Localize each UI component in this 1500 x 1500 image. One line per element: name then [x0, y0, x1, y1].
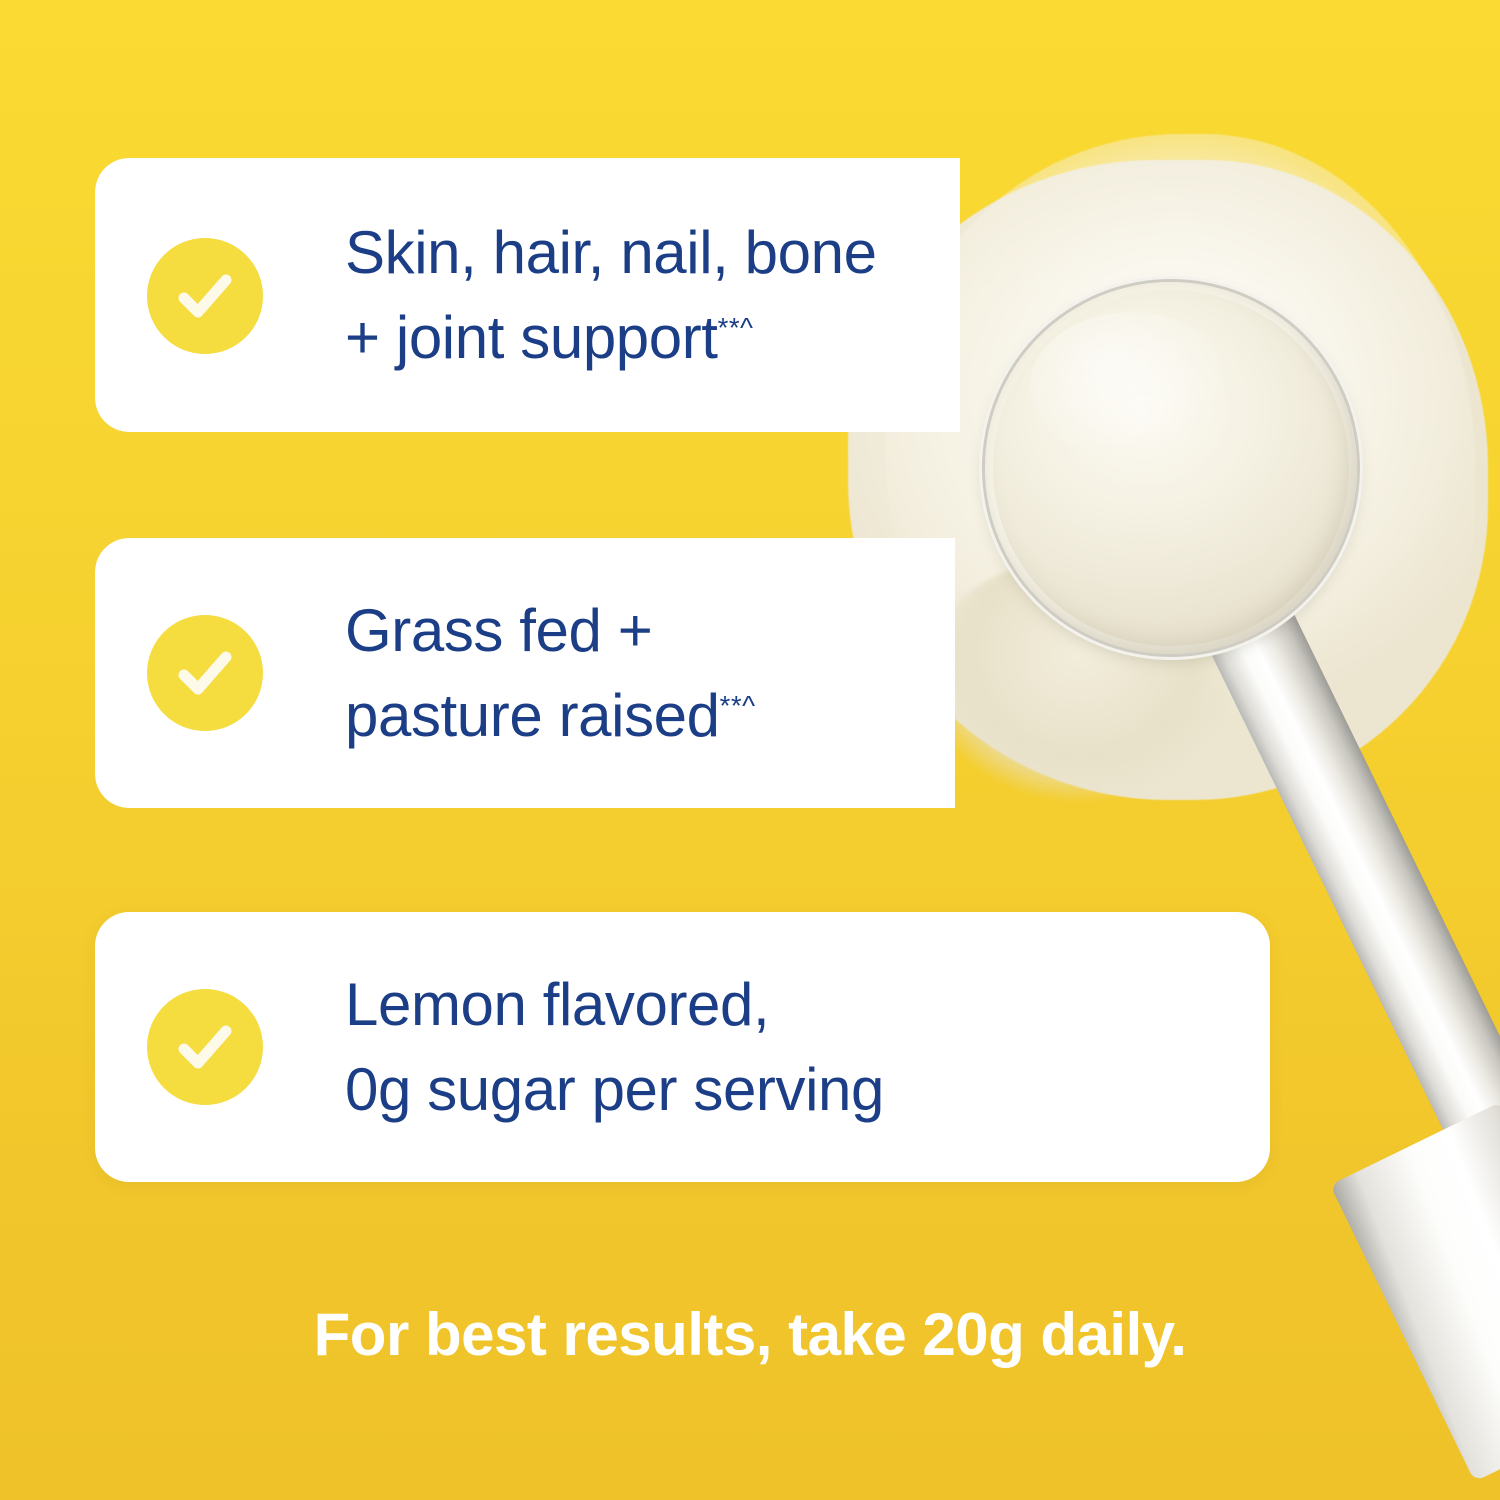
benefit-card-text: Skin, hair, nail, bone + joint support**… — [345, 210, 877, 380]
benefit-card: Lemon flavored, 0g sugar per serving — [95, 912, 1270, 1182]
benefit-card: Grass fed + pasture raised**^ — [95, 538, 1270, 808]
benefit-card-list: Skin, hair, nail, bone + joint support**… — [0, 0, 1500, 1500]
check-icon — [147, 238, 263, 354]
benefit-line-2-text: 0g sugar per serving — [345, 1056, 884, 1123]
benefit-superscript: **^ — [718, 312, 754, 343]
usage-instruction: For best results, take 20g daily. — [0, 1300, 1500, 1369]
benefit-card-text: Grass fed + pasture raised**^ — [345, 588, 756, 758]
benefit-line-2-text: pasture raised — [345, 682, 720, 749]
check-icon — [147, 615, 263, 731]
benefit-card-text: Lemon flavored, 0g sugar per serving — [345, 962, 884, 1132]
benefit-card: Skin, hair, nail, bone + joint support**… — [95, 158, 1270, 432]
benefit-superscript: **^ — [720, 690, 756, 721]
benefit-line-1: Lemon flavored, — [345, 962, 884, 1047]
benefit-line-2: + joint support**^ — [345, 295, 877, 380]
benefit-line-1: Grass fed + — [345, 588, 756, 673]
benefit-line-2: 0g sugar per serving — [345, 1047, 884, 1132]
check-icon — [147, 989, 263, 1105]
benefit-line-2: pasture raised**^ — [345, 673, 756, 758]
benefit-line-2-text: + joint support — [345, 304, 718, 371]
promo-poster: Skin, hair, nail, bone + joint support**… — [0, 0, 1500, 1500]
benefit-line-1: Skin, hair, nail, bone — [345, 210, 877, 295]
